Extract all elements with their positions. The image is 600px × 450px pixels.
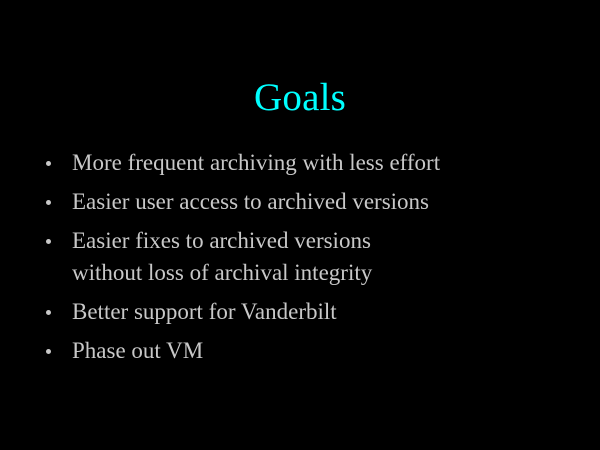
- bullet-text: Easier user access to archived versions: [72, 186, 560, 218]
- bullet-dot-icon: [46, 239, 51, 244]
- bullet-item: Phase out VM: [40, 335, 560, 367]
- bullet-text: Phase out VM: [72, 335, 560, 367]
- slide-title: Goals: [0, 76, 600, 120]
- bullet-text: More frequent archiving with less effort: [72, 147, 560, 179]
- bullet-dot-icon: [46, 161, 51, 166]
- presentation-slide: Goals More frequent archiving with less …: [0, 0, 600, 450]
- bullet-item: More frequent archiving with less effort: [40, 147, 560, 179]
- bullet-dot-icon: [46, 200, 51, 205]
- bullet-text: Easier fixes to archived versions withou…: [72, 225, 560, 289]
- bullet-text: Better support for Vanderbilt: [72, 296, 560, 328]
- bullet-dot-icon: [46, 349, 51, 354]
- bullet-item: Better support for Vanderbilt: [40, 296, 560, 328]
- bullet-dot-icon: [46, 310, 51, 315]
- bullet-item: Easier user access to archived versions: [40, 186, 560, 218]
- bullet-item: Easier fixes to archived versions withou…: [40, 225, 560, 289]
- bullet-list: More frequent archiving with less effort…: [40, 147, 560, 374]
